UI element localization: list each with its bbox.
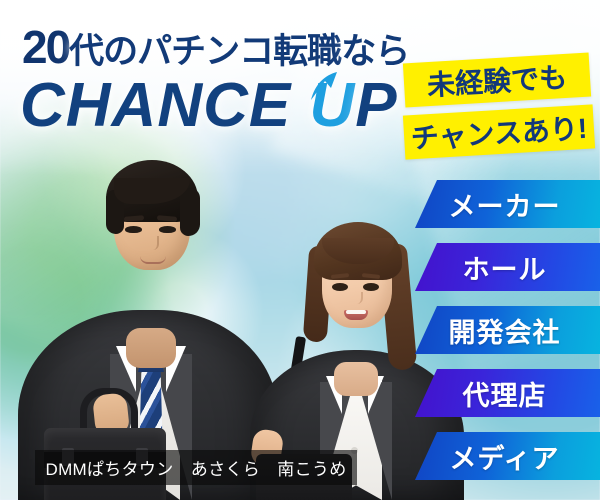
person-male-photo	[18, 152, 278, 500]
male-eye-left	[125, 226, 142, 233]
headline-body: 代のパチンコ転職	[69, 32, 341, 71]
male-mouth	[140, 256, 166, 264]
female-neck	[334, 362, 378, 396]
female-teeth	[346, 310, 366, 314]
category-button-media[interactable]: メディア	[415, 432, 600, 480]
category-button-maker[interactable]: メーカー	[415, 180, 600, 228]
category-button-hall[interactable]: ホール	[415, 243, 600, 291]
male-nose	[148, 236, 159, 250]
male-neck	[126, 328, 176, 368]
headline-number: 20	[22, 21, 69, 73]
female-eye-right	[363, 283, 379, 291]
category-button-development[interactable]: 開発会社	[415, 306, 600, 354]
brand-logo-chance: CHANCE	[20, 71, 291, 140]
brand-logo-u: U	[309, 71, 355, 140]
credit-bar: DMMぱちタウン あさくら 南こうめ	[35, 450, 357, 485]
category-button-maker-label: メーカー	[449, 185, 577, 224]
headline-suffix: なら	[341, 32, 409, 71]
male-eye-right	[159, 226, 176, 233]
badge-no-experience-label: 未経験でも	[426, 56, 568, 104]
male-hair-side-right	[180, 188, 200, 236]
category-button-development-label: 開発会社	[449, 311, 577, 350]
advertisement-banner[interactable]: 20代のパチンコ転職なら CHANCE UP 未経験でも チャンスあり! メーカ…	[0, 0, 600, 500]
brand-logo-p: P	[355, 71, 397, 140]
category-button-agency-label: 代理店	[463, 374, 563, 413]
badge-chance-available-label: チャンスあり!	[410, 107, 589, 157]
headline-text: 20代のパチンコ転職なら	[22, 20, 409, 74]
category-button-media-label: メディア	[449, 437, 575, 476]
female-eye-left	[332, 283, 348, 291]
category-button-agency[interactable]: 代理店	[415, 369, 600, 417]
category-button-hall-label: ホール	[463, 248, 563, 287]
brand-logo: CHANCE UP	[20, 70, 398, 141]
credit-text: DMMぱちタウン あさくら 南こうめ	[46, 455, 347, 480]
